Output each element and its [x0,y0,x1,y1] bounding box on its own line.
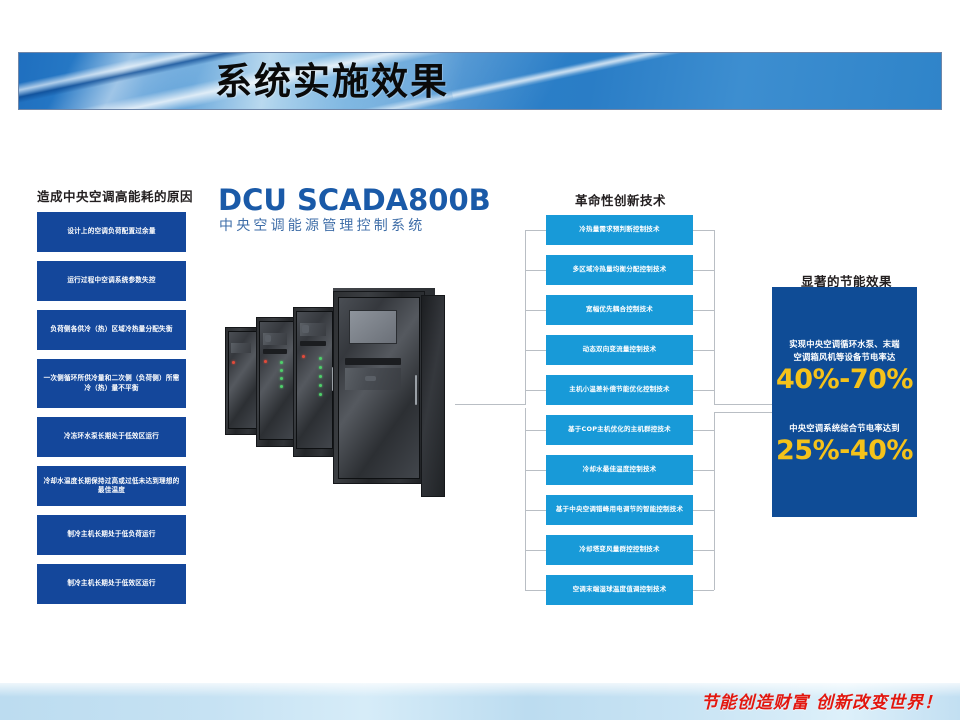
cabinet-4-led-red [232,361,235,364]
banner-streak-4 [452,52,776,99]
cabinet-4-panel [231,343,251,353]
cabinet-2-led-g4 [319,384,322,387]
cabinet-1-slot [345,358,401,365]
bracket-left-b-stub-9 [525,550,546,551]
technologies-heading: 革命性创新技术 [575,190,666,209]
bracket-left-a-spine [525,230,526,405]
effect-panel: 实现中央空调循环水泵、末端 空调箱风机等设备节电率达 40%-70% 中央空调系… [772,287,917,517]
bracket-right-b-stub-7 [693,470,714,471]
bracket-right-b-stub-10 [693,590,714,591]
bracket-left-b-stub-8 [525,510,546,511]
cause-box-3: 负荷侧各供冷（热）区域冷热量分配失衡 [37,310,186,350]
bracket-right-b-stub-9 [693,550,714,551]
tech-box-9: 冷却塔变风量群控控制技术 [546,535,693,565]
cabinet-3-led-g2 [280,369,283,372]
bracket-left-a-stub-5 [525,390,546,391]
effect-value-1: 40%-70% [776,364,913,396]
bracket-left-b-stub-7 [525,470,546,471]
cabinet-2-led-g1 [319,357,322,360]
control-cabinet-illustration [225,265,475,565]
connector-cabinet-to-tree [455,404,525,405]
bracket-right-b-stub-8 [693,510,714,511]
cabinet-2-led-red [302,355,305,358]
cabinet-1-screen [349,310,397,344]
cabinet-3-knob [265,335,271,342]
cause-box-1: 设计上的空调负荷配置过余量 [37,212,186,252]
cabinet-3-led-g1 [280,361,283,364]
cause-box-6: 冷却水温度长期保持过高或过低未达到理想的最佳温度 [37,466,186,506]
bracket-right-b-spine [714,412,715,590]
page-title: 系统实施效果 [215,56,449,108]
tech-box-6: 基于COP主机优化的主机群控技术 [546,415,693,445]
tech-box-3: 宽幅优先耦合控制技术 [546,295,693,325]
bracket-right-a-stub-4 [693,350,714,351]
cause-box-5: 冷冻环水泵长期处于低效区运行 [37,417,186,457]
cabinet-2-knob [302,325,309,333]
cabinet-1-knob [365,376,376,381]
bracket-right-b-stub-6 [693,430,714,431]
bracket-right-a-stub-1 [693,230,714,231]
cause-box-4: 一次侧循环所供冷量和二次侧（负荷侧）所需冷（热）量不平衡 [37,359,186,408]
bracket-right-a-spine [714,230,715,404]
title-banner: 系统实施效果 [18,52,942,110]
product-name: DCU SCADA800B [218,183,491,217]
cabinet-2-slot [300,341,326,346]
tech-box-8: 基于中央空调错峰用电调节的智能控制技术 [546,495,693,525]
cause-box-7: 制冷主机长期处于低负荷运行 [37,515,186,555]
effect-line-3: 中央空调系统综合节电率达到 [789,422,899,435]
bracket-left-a-stub-3 [525,310,546,311]
cabinet-2-led-g2 [319,366,322,369]
cabinet-3-led-red [264,360,267,363]
bracket-right-a-to-panel [714,404,772,405]
cabinet-2-led-g5 [319,393,322,396]
effect-line-2: 空调箱风机等设备节电率达 [794,351,896,364]
bracket-left-a-stub-1 [525,230,546,231]
tech-box-4: 动态双向变流量控制技术 [546,335,693,365]
cabinet-3-led-g4 [280,385,283,388]
bracket-right-a-stub-2 [693,270,714,271]
cabinet-3-slot [263,349,287,354]
effect-line-1: 实现中央空调循环水泵、末端 [789,338,899,351]
bracket-left-b-spine [525,408,526,590]
cause-box-8: 制冷主机长期处于低效区运行 [37,564,186,604]
bracket-right-a-stub-3 [693,310,714,311]
cause-box-2: 运行过程中空调系统参数失控 [37,261,186,301]
bracket-left-b-stub-6 [525,430,546,431]
bracket-left-a-stub-2 [525,270,546,271]
tech-box-2: 多区域冷热量均衡分配控制技术 [546,255,693,285]
cabinet-3-led-g3 [280,377,283,380]
cabinet-1-side [421,295,445,497]
footer-slogan: 节能创造财富 创新改变世界！ [701,688,942,713]
causes-heading: 造成中央空调高能耗的原因 [37,186,193,205]
bracket-right-b-to-panel [714,412,772,413]
bracket-left-b-stub-10 [525,590,546,591]
effect-value-2: 25%-40% [776,435,913,467]
bracket-left-a-stub-4 [525,350,546,351]
tech-box-10: 空调末端湿球温度值调控制技术 [546,575,693,605]
tech-box-1: 冷热量需求预判断控制技术 [546,215,693,245]
bracket-right-a-stub-5 [693,390,714,391]
product-subtitle: 中央空调能源管理控制系统 [219,215,425,235]
tech-box-7: 冷却水最佳温度控制技术 [546,455,693,485]
tech-box-5: 主机小温差补偿节能优化控制技术 [546,375,693,405]
cabinet-2-led-g3 [319,375,322,378]
cabinet-1-handle [415,375,417,405]
